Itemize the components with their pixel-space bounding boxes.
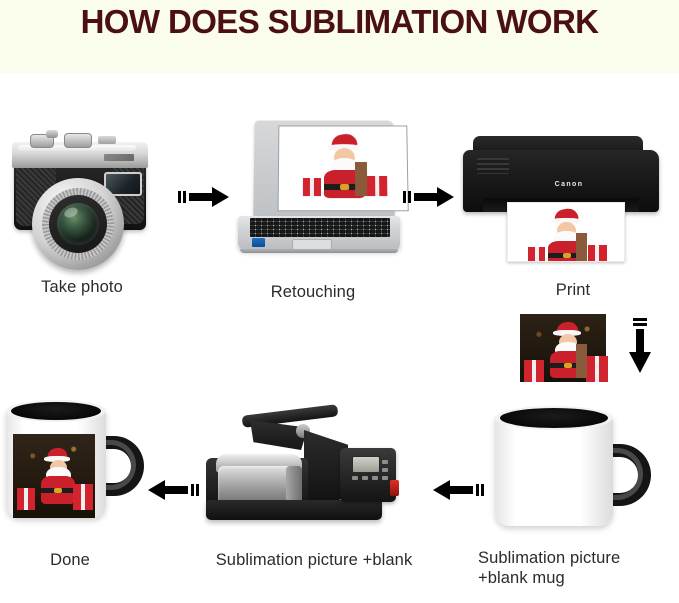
laptop-icon	[236, 120, 401, 262]
press-button-4[interactable]	[382, 460, 388, 464]
press-lcd-display	[352, 456, 380, 473]
press-base	[206, 500, 382, 520]
printer-icon: Canon	[463, 136, 663, 262]
press-button-3[interactable]	[372, 476, 378, 480]
blank-mug-body	[495, 414, 613, 526]
printed-mug-artwork	[13, 434, 95, 518]
blank-mug-interior	[500, 408, 608, 428]
caption-blank-mug-line1: Sublimation picture	[478, 549, 620, 567]
arrow-printer-to-picture	[627, 318, 653, 374]
caption-done: Done	[0, 550, 140, 570]
camera-lens-glass	[57, 203, 99, 245]
mug-heat-press-icon	[200, 404, 400, 540]
sublimation-picture	[516, 310, 610, 382]
camera-dial-right	[64, 133, 92, 148]
laptop-cpu-sticker	[252, 238, 265, 247]
caption-press: Sublimation picture +blank	[180, 550, 448, 570]
laptop-keyboard	[250, 218, 390, 237]
santa-artwork-mug	[13, 434, 95, 518]
printer-output-paper	[507, 202, 625, 262]
page-title: HOW DOES SUBLIMATION WORK	[0, 0, 679, 45]
caption-blank-mug: Sublimation picture +blank mug	[478, 548, 678, 588]
printer-brand-logo: Canon	[541, 180, 597, 189]
caption-take-photo: Take photo	[12, 277, 152, 297]
laptop-front-edge	[240, 249, 398, 253]
camera-shutter-button	[46, 130, 58, 138]
caption-print: Print	[503, 280, 643, 300]
camera-hotshoe	[98, 136, 116, 144]
santa-artwork-picture	[516, 310, 610, 382]
arrow-camera-to-laptop	[178, 185, 230, 209]
santa-artwork-screen	[279, 126, 408, 210]
caption-retouching: Retouching	[243, 282, 383, 302]
camera-brand-plate	[104, 154, 134, 161]
arrow-mug-to-press	[432, 478, 484, 502]
press-power-button[interactable]	[390, 480, 399, 496]
laptop-lid	[253, 121, 394, 217]
press-button-1[interactable]	[352, 476, 358, 480]
header-band: HOW DOES SUBLIMATION WORK	[0, 0, 679, 73]
blank-mug-icon	[495, 402, 657, 530]
camera-icon	[8, 120, 156, 260]
santa-artwork-print	[508, 203, 624, 261]
printed-mug-icon	[6, 398, 156, 528]
printed-mug-interior	[11, 402, 101, 420]
printer-control-panel	[477, 158, 509, 174]
caption-blank-mug-line2: +blank mug	[478, 569, 565, 587]
arrow-laptop-to-printer	[403, 185, 455, 209]
infographic-page: HOW DOES SUBLIMATION WORK	[0, 0, 679, 603]
laptop-screen	[278, 125, 409, 211]
press-button-5[interactable]	[382, 468, 388, 472]
press-button-6[interactable]	[382, 476, 388, 480]
press-button-2[interactable]	[362, 476, 368, 480]
